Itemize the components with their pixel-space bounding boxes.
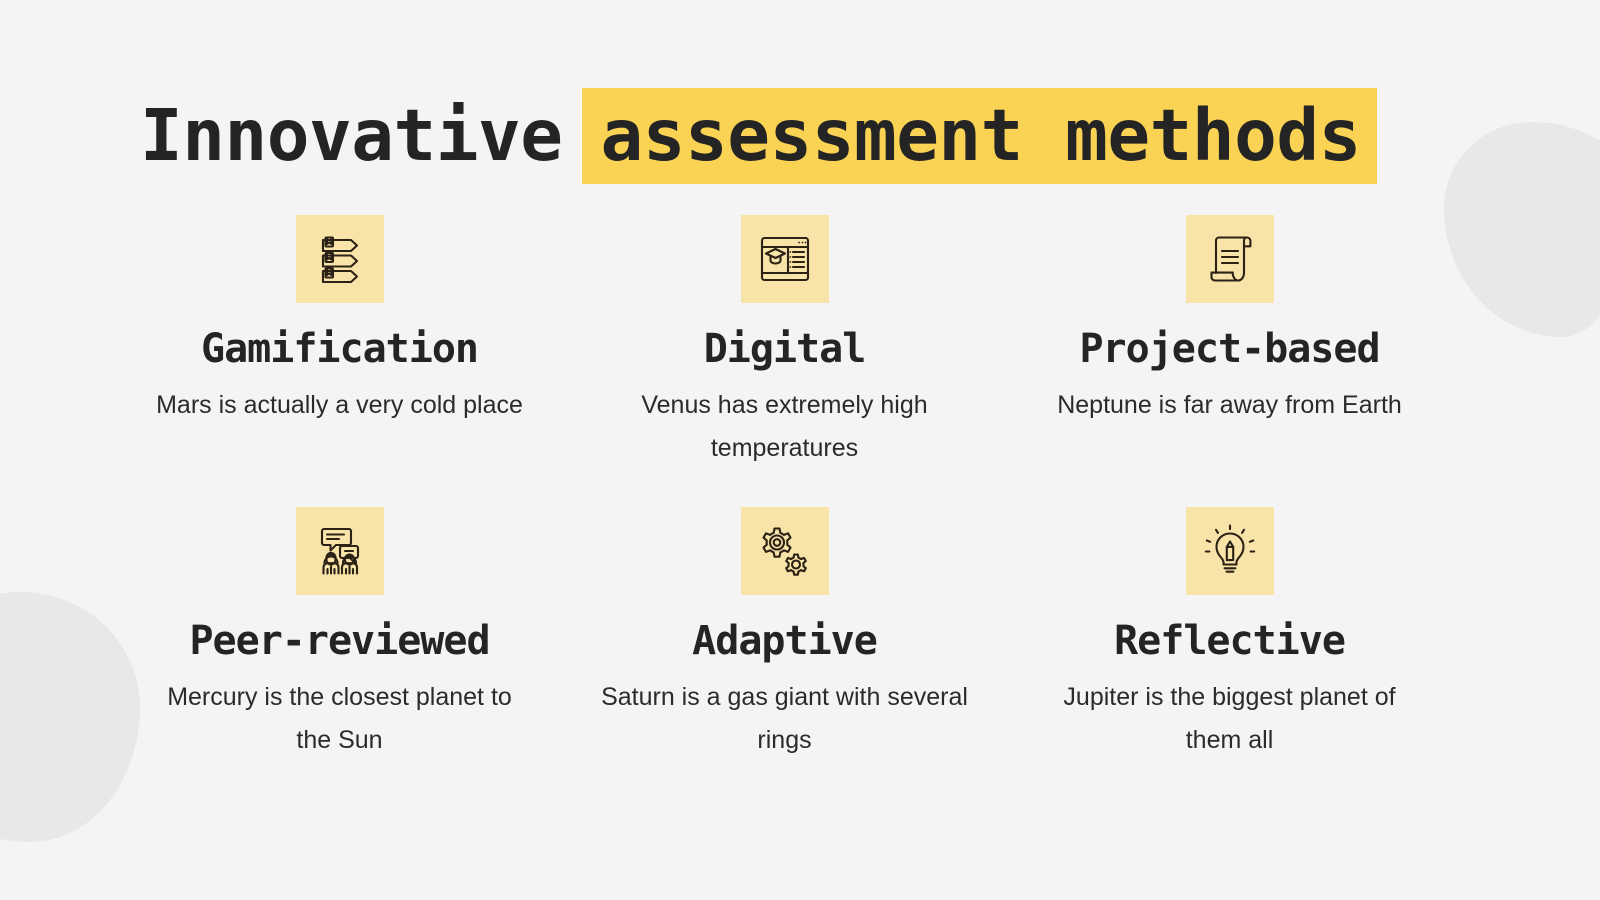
feature-card-title: Peer-reviewed [189,616,489,666]
feature-card-reflective[interactable]: Reflective Jupiter is the biggest planet… [1007,507,1452,799]
slide-canvas: Innovative assessment methods Gamificati… [0,0,1600,900]
feature-card-description: Mars is actually a very cold place [156,384,523,427]
feature-card-description: Neptune is far away from Earth [1057,384,1402,427]
feature-card-title: Adaptive [692,616,877,666]
title-plain-word: Innovative [140,88,582,184]
feature-card-gamification[interactable]: Gamification Mars is actually a very col… [117,215,562,507]
feature-card-digital[interactable]: Digital Venus has extremely high tempera… [562,215,1007,507]
people-speech-bubbles-icon [296,507,384,595]
feature-card-title: Reflective [1114,616,1345,666]
feature-card-peer-reviewed[interactable]: Peer-reviewed Mercury is the closest pla… [117,507,562,799]
decorative-blob-right [1444,122,1600,337]
feature-card-description: Jupiter is the biggest planet of them al… [1045,676,1415,762]
two-gears-icon [741,507,829,595]
feature-card-title: Project-based [1079,324,1379,374]
feature-card-project-based[interactable]: Project-based Neptune is far away from E… [1007,215,1452,507]
leaderboard-bars-icon [296,215,384,303]
feature-card-description: Mercury is the closest planet to the Sun [155,676,525,762]
lightbulb-pencil-icon [1186,507,1274,595]
feature-card-description: Venus has extremely high temperatures [600,384,970,470]
feature-card-title: Gamification [201,324,478,374]
browser-graduation-cap-icon [741,215,829,303]
scroll-document-icon [1186,215,1274,303]
slide-title: Innovative assessment methods [140,88,1377,184]
feature-card-description: Saturn is a gas giant with several rings [600,676,970,762]
feature-grid: Gamification Mars is actually a very col… [117,215,1452,799]
feature-card-adaptive[interactable]: Adaptive Saturn is a gas giant with seve… [562,507,1007,799]
feature-card-title: Digital [704,324,866,374]
title-highlighted-word: assessment methods [582,88,1376,184]
